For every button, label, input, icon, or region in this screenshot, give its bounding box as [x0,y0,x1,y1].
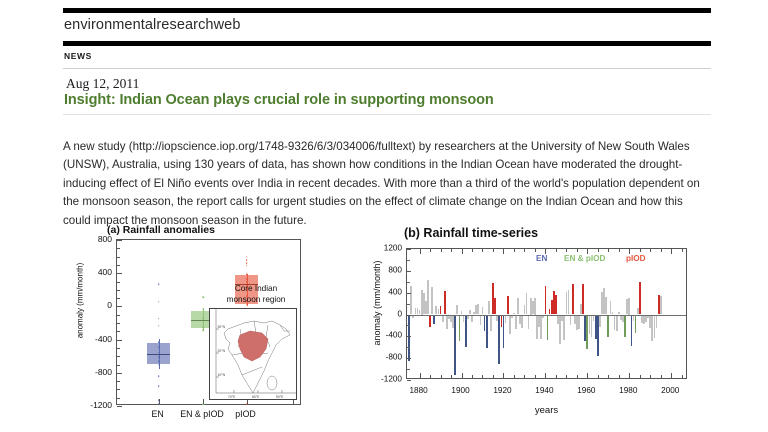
panel-b-x-tick-label: 1940 [535,386,553,395]
panel-a-y-axis-label: anomaly (mm/month) [76,236,85,366]
tick-mark [407,315,411,316]
tick-mark-minor [535,375,536,378]
tick-mark-minor-top [650,249,651,252]
panel-b-y-tick-label: -800 [386,353,406,362]
panel-a-data-point [246,256,248,258]
figure-container: (a) Rainfall anomalies anomaly (mm/month… [63,224,711,430]
tick-mark [407,358,411,359]
article-body: A new study (http://iopscience.iop.org/1… [63,138,713,231]
headline-divider [63,114,711,115]
panel-a-y-tick-label: -800 [95,367,116,377]
section-label-news[interactable]: NEWS [64,51,92,61]
panel-a-y-tick-label: 400 [98,267,116,277]
panel-a-x-tick-label: pIOD [235,409,256,419]
panel-b-bar [628,298,630,314]
tick-mark-minor-top [598,249,599,252]
panel-b-y-tick-label: 800 [388,265,406,274]
tick-mark-minor [472,375,473,378]
panel-b-x-tick-label: 1880 [409,386,427,395]
tick-mark-minor [117,398,120,399]
panel-a-title: (a) Rainfall anomalies [107,224,215,236]
tick-mark [117,406,122,407]
panel-a-data-point [158,375,160,377]
panel-b-bar [442,315,444,322]
tick-mark-minor-top [451,249,452,252]
panel-b-bar [528,315,530,329]
panel-b-bar [410,286,412,315]
panel-b-bar [616,315,618,332]
panel-b-x-tick-label: 2000 [661,386,679,395]
tick-mark [407,293,411,294]
panel-b-bar [465,315,467,347]
svg-text:20°N: 20°N [218,349,226,353]
tick-mark-minor [430,375,431,378]
article-date: Aug 12, 2011 [66,76,139,92]
site-logo-text[interactable]: environmentalresearchweb [64,17,241,33]
tick-mark-minor [117,265,120,266]
panel-b-y-tick-label: 400 [388,287,406,296]
tick-mark-minor [407,347,410,348]
svg-text:70°E: 70°E [228,395,236,399]
tick-mark-minor [117,257,120,258]
tick-mark-minor-top [566,249,567,252]
tick-mark-minor [117,290,120,291]
svg-text:10°N: 10°N [218,373,226,377]
panel-a-data-point [158,301,160,303]
panel-b-bar [507,296,509,314]
tick-mark [117,240,122,241]
tick-mark-minor-top [482,249,483,252]
tick-mark-minor [117,323,120,324]
panel-b-bar [505,315,507,324]
svg-text:80°E: 80°E [252,395,260,399]
panel-b-bar [599,315,601,328]
panel-b-bar [660,296,662,315]
panel-b-x-axis-label: years [406,405,687,416]
panel-b-bar [477,304,479,315]
panel-b-bar [471,315,473,322]
panel-a-rainfall-anomalies: (a) Rainfall anomalies anomaly (mm/month… [63,224,353,430]
panel-b-x-tick-label: 1980 [619,386,637,395]
tick-mark [671,373,672,378]
inset-caption-line-1: Core Indian [213,284,299,295]
tick-mark-minor-top [524,249,525,252]
tick-mark-minor [577,375,578,378]
panel-b-bar [431,287,433,315]
tick-mark [462,373,463,378]
tick-mark-minor-top [514,249,515,252]
panel-b-bar [494,298,496,315]
tick-mark [420,373,421,378]
panel-b-x-tick-label: 1960 [577,386,595,395]
tick-mark-minor [407,260,410,261]
panel-b-bar [605,297,607,314]
tick-mark-minor [619,375,620,378]
panel-b-bar [444,291,446,314]
panel-a-data-point [158,318,160,320]
inset-caption-line-2: monsoon region [213,295,299,306]
tick-mark-minor [407,369,410,370]
tick-mark-minor-top [430,249,431,252]
article-page: environmentalresearchweb NEWS Aug 12, 20… [0,0,768,432]
tick-mark-minor [407,325,410,326]
panel-a-median-line [147,354,170,355]
legend-item-enpiod: EN & pIOD [564,254,605,263]
tick-mark-minor-top [661,249,662,252]
panel-a-y-tick-label: -400 [95,334,116,344]
tick-mark [407,336,411,337]
tick-mark-minor [514,375,515,378]
panel-a-data-point [158,284,160,286]
header-top-rule [63,8,711,13]
tick-mark [117,340,122,341]
tick-mark [159,399,160,404]
panel-b-y-tick-label: -400 [386,331,406,340]
tick-mark-minor [117,381,120,382]
tick-mark-top [462,249,463,254]
tick-mark-minor [524,375,525,378]
panel-b-bar [656,315,658,328]
panel-b-bar [635,315,637,334]
tick-mark-minor [117,356,120,357]
panel-b-x-tick-label: 1900 [451,386,469,395]
panel-a-data-point [202,296,204,298]
panel-a-x-tick-label: EN & pIOD [180,409,224,419]
tick-mark-top [503,249,504,254]
tick-mark-minor-top [577,249,578,252]
panel-b-bar [568,290,570,314]
panel-b-bar [408,315,410,361]
panel-b-bar [427,280,429,315]
tick-mark-minor [117,315,120,316]
tick-mark-minor [650,375,651,378]
tick-mark [203,399,204,404]
tick-mark [117,306,122,307]
panel-b-y-tick-label: 1200 [384,244,406,253]
panel-a-x-tick-labels: ENEN & pIODpIOD [116,409,301,423]
tick-mark-minor [407,304,410,305]
tick-mark-minor [556,375,557,378]
svg-text:30°N: 30°N [218,325,226,329]
panel-b-bar [555,295,557,314]
tick-mark-minor-top [472,249,473,252]
panel-b-title: (b) Rainfall time-series [404,226,538,240]
panel-b-x-tick-label: 1920 [493,386,511,395]
panel-b-bar [540,315,542,340]
tick-mark-minor [441,375,442,378]
tick-mark-minor [640,375,641,378]
panel-b-bar [578,315,580,329]
india-map-svg: 30°N20°N10°N70°E80°E90°E [210,309,296,399]
panel-a-data-point [158,385,160,387]
panel-b-zero-line [407,315,686,316]
panel-b-bar [482,307,484,314]
tick-mark-minor [661,375,662,378]
panel-b-bar [456,305,458,314]
tick-mark-minor [608,375,609,378]
tick-mark [407,249,411,250]
tick-mark-minor [117,365,120,366]
tick-mark [117,273,122,274]
tick-mark-minor [682,375,683,378]
header-second-rule [63,41,711,46]
panel-b-bar [607,315,609,338]
panel-a-y-tick-label: 800 [98,234,116,244]
tick-mark-minor [117,348,120,349]
tick-mark [117,373,122,374]
tick-mark-minor [598,375,599,378]
panel-b-y-tick-label: -1200 [381,375,406,384]
panel-b-bar [440,306,442,315]
panel-b-bar [515,315,517,330]
tick-mark-minor [117,248,120,249]
legend-item-piod: pIOD [626,254,646,263]
panel-b-rainfall-time-series: (b) Rainfall time-series anomaly (mm/mon… [358,224,711,430]
panel-b-bar [429,315,431,327]
panel-b-bar [534,298,536,314]
header-divider [63,68,711,69]
svg-text:90°E: 90°E [276,395,284,399]
tick-mark-minor-top [556,249,557,252]
panel-b-y-axis-label: anomaly (mm/month) [372,233,382,373]
inset-map-india: 30°N20°N10°N70°E80°E90°E [209,308,297,400]
panel-a-plot-area: Core Indianmonsoon region30°N20°N10°N70°… [116,239,301,405]
tick-mark-minor [117,389,120,390]
tick-mark-minor [407,282,410,283]
panel-b-bar [563,315,565,340]
tick-mark [503,373,504,378]
tick-mark-minor [566,375,567,378]
panel-b-bar [624,315,626,338]
panel-b-bar [521,315,523,329]
tick-mark-minor-top [619,249,620,252]
panel-b-bar [545,286,547,315]
tick-mark-minor [451,375,452,378]
panel-b-bar [570,315,572,326]
tick-mark-minor [493,375,494,378]
inset-caption: Core Indianmonsoon region [213,284,299,305]
tick-mark-minor-top [682,249,683,252]
tick-mark-minor [117,282,120,283]
tick-mark-minor-top [535,249,536,252]
panel-a-data-point [246,265,248,267]
tick-mark-minor-top [640,249,641,252]
legend-item-en: EN [536,254,547,263]
tick-mark-minor [117,331,120,332]
panel-b-bar [547,315,549,340]
panel-a-data-point [158,325,160,327]
panel-b-bar [639,282,641,314]
panel-b-bar [454,315,456,375]
panel-b-bar [526,293,528,314]
tick-mark-minor-top [493,249,494,252]
panel-b-bar [459,315,461,341]
panel-a-data-point [246,262,248,264]
panel-b-plot-area [406,248,687,379]
tick-mark-minor-top [441,249,442,252]
tick-mark [629,373,630,378]
panel-b-bar [572,284,574,314]
page-title[interactable]: Insight: Indian Ocean plays crucial role… [64,92,494,108]
panel-b-bar [488,301,490,315]
tick-mark [407,271,411,272]
tick-mark-minor [482,375,483,378]
panel-b-bar [582,284,584,314]
tick-mark-minor [117,298,120,299]
tick-mark [587,373,588,378]
panel-b-bar [480,315,482,325]
panel-b-bar [486,315,488,348]
panel-a-x-tick-label: EN [152,409,164,419]
tick-mark-top [671,249,672,254]
tick-mark-minor-top [608,249,609,252]
tick-mark-top [420,249,421,254]
panel-b-y-tick-label: 0 [397,309,406,318]
panel-a-data-point [246,259,248,261]
panel-b-bar [490,315,492,331]
panel-b-bar [433,315,435,325]
panel-a-y-tick-label: 0 [107,300,116,310]
panel-a-y-tick-label: -1200 [90,400,116,410]
panel-b-bar [517,298,519,315]
tick-mark [545,373,546,378]
tick-mark [407,380,411,381]
